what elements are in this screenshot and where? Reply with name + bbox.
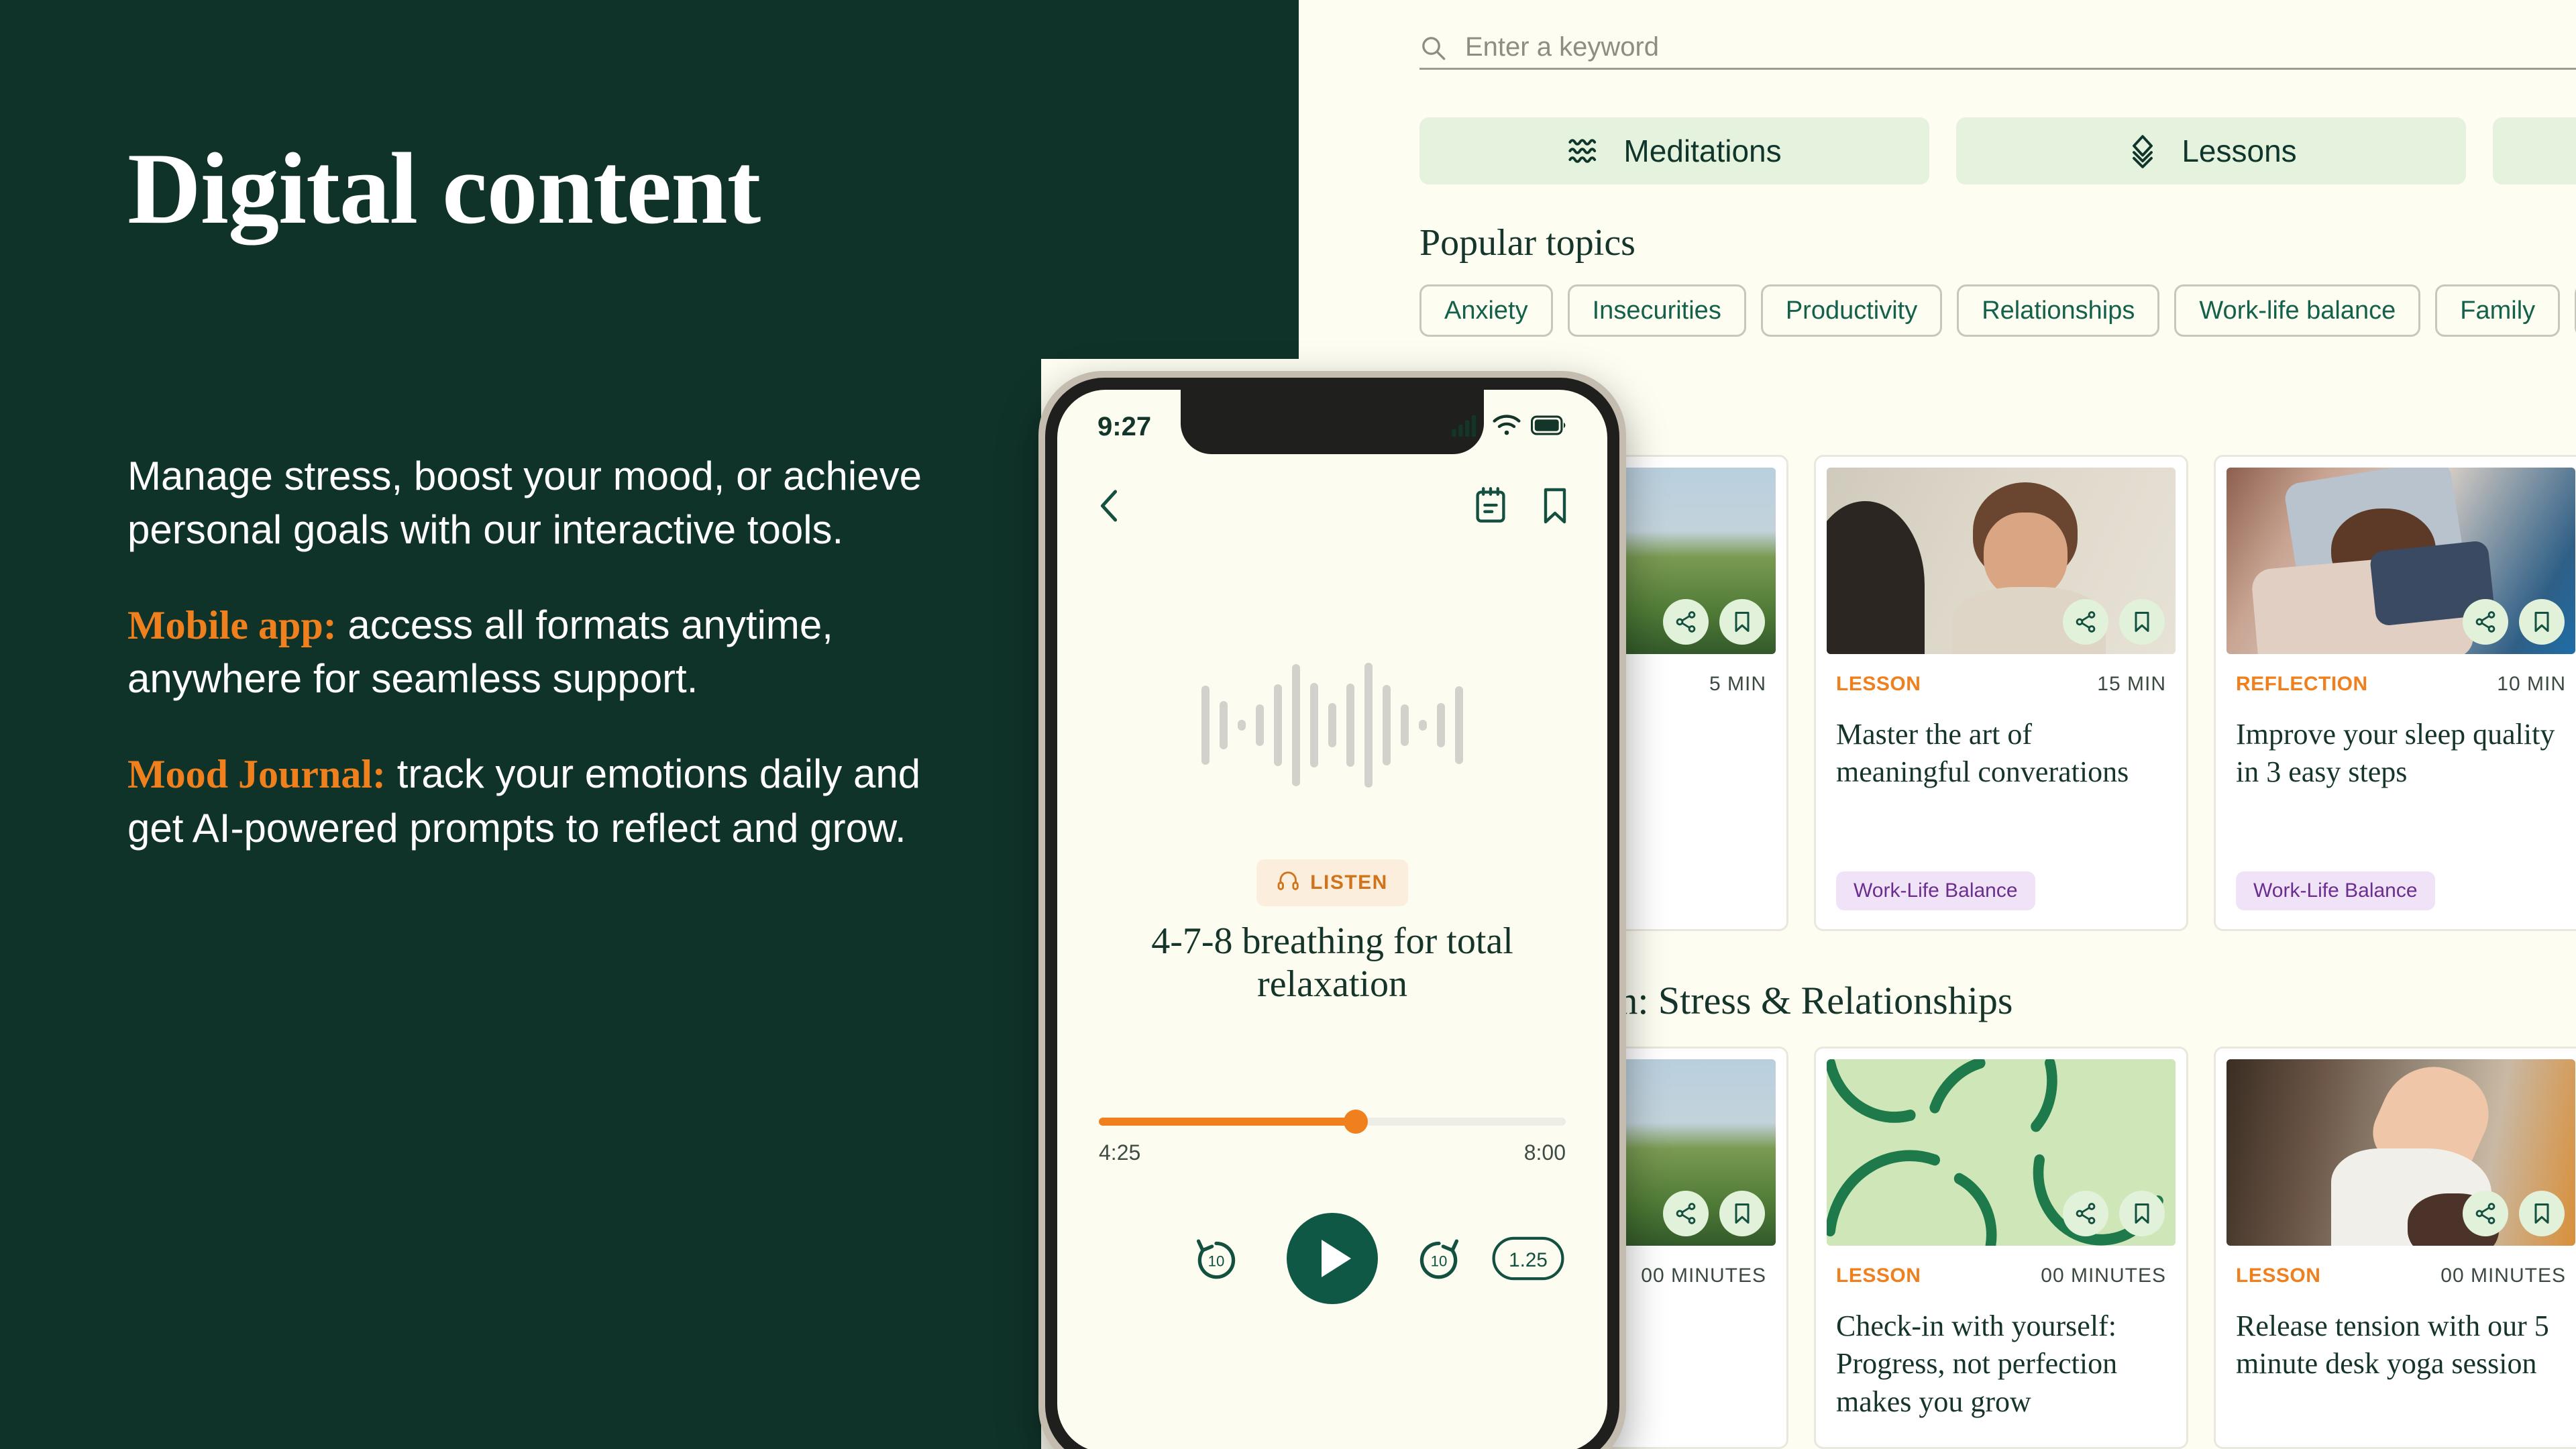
time-current: 4:25: [1099, 1140, 1140, 1165]
topic-chip-productivity[interactable]: Productivity: [1761, 284, 1942, 337]
card-kind: LESSON: [1836, 1265, 1921, 1287]
search-icon: [1419, 34, 1446, 61]
page-title: Digital content: [127, 138, 760, 239]
waves-icon: [1567, 133, 1602, 168]
topic-chip-anxiety[interactable]: Anxiety: [1419, 284, 1553, 337]
search-bar[interactable]: Enter a keyword: [1419, 27, 2576, 70]
card-title: Check-in with yourself: Progress, not pe…: [1827, 1307, 2176, 1421]
card-meta: LESSON 00 MINUTES: [2226, 1265, 2575, 1287]
content-card[interactable]: LESSON 00 MINUTES Check-in with yourself…: [1814, 1046, 2188, 1449]
card-image-actions: [2063, 1191, 2165, 1236]
status-time: 9:27: [1097, 412, 1151, 442]
status-icons: [1452, 414, 1567, 440]
share-icon[interactable]: [1663, 1191, 1709, 1236]
skip-forward-10-icon[interactable]: 10: [1414, 1234, 1464, 1283]
card-image-actions: [2463, 1191, 2565, 1236]
share-icon[interactable]: [2463, 599, 2508, 645]
player-controls: 10 10 1.25: [1099, 1205, 1566, 1312]
card-meta: LESSON 15 MIN: [1827, 673, 2176, 696]
track-title: 4-7-8 breathing for total relaxation: [1104, 920, 1560, 1006]
topic-chip-family[interactable]: Family: [2435, 284, 2560, 337]
progress-times: 4:25 8:00: [1099, 1140, 1566, 1165]
share-icon[interactable]: [1663, 599, 1709, 645]
card-image-actions: [1663, 599, 1765, 645]
card-title: Master the art of meaningful converation…: [1827, 716, 2176, 792]
phone-nav-actions: [1473, 486, 1571, 529]
topic-chip-insecurities[interactable]: Insecurities: [1568, 284, 1746, 337]
phone-bezel: 9:27: [1045, 378, 1619, 1449]
listen-badge: LISTEN: [1256, 859, 1408, 906]
svg-text:10: 10: [1208, 1253, 1225, 1270]
headphones-icon: [1277, 869, 1299, 897]
phone-mockup: 9:27: [1038, 371, 1626, 1449]
card-tag: Work-Life Balance: [2236, 871, 2435, 910]
progress-knob[interactable]: [1344, 1110, 1368, 1134]
card-duration: 15 MIN: [2097, 673, 2166, 696]
topic-chip-relationships[interactable]: Relationships: [1957, 284, 2159, 337]
audio-waveform: [1057, 661, 1607, 789]
card-kind: LESSON: [1836, 673, 1921, 696]
category-button-third[interactable]: [2493, 117, 2576, 184]
card-image: [1827, 1059, 2176, 1246]
battery-icon: [1531, 415, 1567, 439]
card-kind: LESSON: [2236, 1265, 2320, 1287]
hero-bullet-2-label: Mood Journal:: [127, 752, 386, 796]
bookmark-icon[interactable]: [1719, 599, 1765, 645]
playback-speed-button[interactable]: 1.25: [1491, 1236, 1566, 1281]
play-icon: [1322, 1240, 1351, 1277]
share-icon[interactable]: [2463, 1191, 2508, 1236]
card-meta: LESSON 00 MINUTES: [1827, 1265, 2176, 1287]
play-button[interactable]: [1287, 1213, 1378, 1304]
phone-screen: 9:27: [1057, 390, 1607, 1449]
card-image: [1827, 468, 2176, 654]
phone-nav-bar: [1057, 477, 1607, 537]
card-kind: REFLECTION: [2236, 673, 2368, 696]
card-duration: 00 MINUTES: [2440, 1265, 2566, 1287]
bookmark-icon[interactable]: [1719, 1191, 1765, 1236]
content-card[interactable]: LESSON 00 MINUTES Release tension with o…: [2214, 1046, 2576, 1449]
card-meta: REFLECTION 10 MIN: [2226, 673, 2575, 696]
bookmark-icon[interactable]: [2519, 1191, 2565, 1236]
card-image-actions: [1663, 1191, 1765, 1236]
hero-paragraph-1: Manage stress, boost your mood, or achie…: [127, 449, 973, 557]
card-duration: 5 MIN: [1709, 673, 1766, 696]
topic-chip-list: Anxiety Insecurities Productivity Relati…: [1419, 284, 2576, 337]
card-title: Improve your sleep quality in 3 easy ste…: [2226, 716, 2575, 792]
wifi-icon: [1492, 414, 1521, 440]
card-duration: 00 MINUTES: [1641, 1265, 1766, 1287]
hero-bullet-1-label: Mobile app:: [127, 603, 337, 647]
share-icon[interactable]: [2063, 1191, 2108, 1236]
notepad-icon[interactable]: [1473, 486, 1508, 529]
layers-icon: [2125, 133, 2160, 168]
hero-bullet-2: Mood Journal: track your emotions daily …: [127, 747, 973, 855]
card-image-actions: [2063, 599, 2165, 645]
category-button-meditations[interactable]: Meditations: [1419, 117, 1929, 184]
chevron-left-icon[interactable]: [1093, 486, 1124, 529]
bookmark-icon[interactable]: [2119, 1191, 2165, 1236]
content-card[interactable]: LESSON 15 MIN Master the art of meaningf…: [1814, 455, 2188, 931]
category-label-lessons: Lessons: [2182, 133, 2296, 169]
search-input[interactable]: Enter a keyword: [1465, 32, 1659, 62]
category-buttons: Meditations Lessons: [1419, 117, 2576, 184]
svg-text:1.25: 1.25: [1509, 1249, 1548, 1271]
bookmark-icon[interactable]: [1539, 486, 1571, 529]
progress-fill: [1099, 1118, 1356, 1126]
card-duration: 00 MINUTES: [2041, 1265, 2166, 1287]
content-card[interactable]: REFLECTION 10 MIN Improve your sleep qua…: [2214, 455, 2576, 931]
category-label-meditations: Meditations: [1623, 133, 1781, 169]
share-icon[interactable]: [2063, 599, 2108, 645]
progress-section: 4:25 8:00: [1099, 1118, 1566, 1165]
card-image-actions: [2463, 599, 2565, 645]
time-total: 8:00: [1524, 1140, 1566, 1165]
topic-chip-work-life-balance[interactable]: Work-life balance: [2174, 284, 2420, 337]
skip-back-10-icon[interactable]: 10: [1191, 1234, 1241, 1283]
card-duration: 10 MIN: [2497, 673, 2566, 696]
bookmark-icon[interactable]: [2519, 599, 2565, 645]
category-button-lessons[interactable]: Lessons: [1956, 117, 2466, 184]
card-tag: Work-Life Balance: [1836, 871, 2035, 910]
bookmark-icon[interactable]: [2119, 599, 2165, 645]
svg-text:10: 10: [1431, 1253, 1448, 1270]
card-image: [2226, 468, 2575, 654]
progress-slider[interactable]: [1099, 1118, 1566, 1126]
card-title: Release tension with our 5 minute desk y…: [2226, 1307, 2575, 1383]
listen-label: LISTEN: [1310, 871, 1388, 894]
card-image: [2226, 1059, 2575, 1246]
hero-copy: Manage stress, boost your mood, or achie…: [127, 449, 973, 855]
popular-topics-heading: Popular topics: [1419, 221, 1635, 264]
signal-icon: [1452, 414, 1483, 440]
hero-bullet-1: Mobile app: access all formats anytime, …: [127, 598, 973, 706]
status-bar: 9:27: [1057, 390, 1607, 464]
